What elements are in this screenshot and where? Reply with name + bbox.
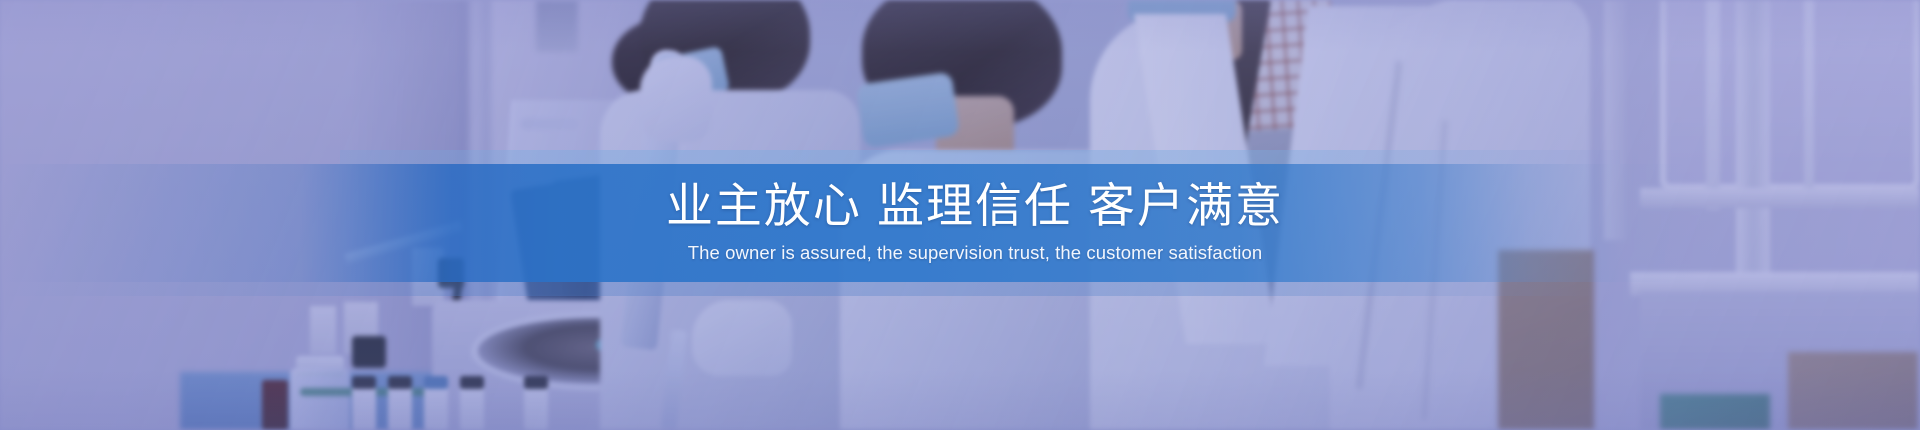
caption-text-group: 业主放心 监理信任 客户满意 The owner is assured, the… — [0, 150, 1920, 296]
banner-subheadline: The owner is assured, the supervision tr… — [688, 241, 1263, 265]
banner-headline: 业主放心 监理信任 客户满意 — [666, 181, 1284, 231]
hero-banner: 业主放心 监理信任 客户满意 The owner is assured, the… — [0, 0, 1920, 430]
